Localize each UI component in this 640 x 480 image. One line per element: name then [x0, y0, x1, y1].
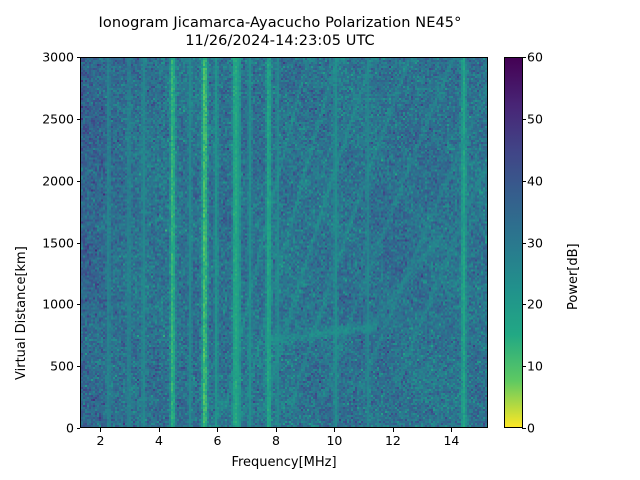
- x-tick-label: 10: [326, 433, 342, 448]
- colorbar-tick-label: 20: [527, 297, 543, 312]
- title-line-2: 11/26/2024-14:23:05 UTC: [0, 32, 560, 50]
- x-tick-label: 4: [155, 433, 163, 448]
- colorbar-tick: [522, 304, 526, 305]
- y-tick-label: 0: [66, 421, 74, 436]
- x-tick-label: 8: [272, 433, 280, 448]
- y-tick: [77, 119, 81, 120]
- x-tick-label: 2: [96, 433, 104, 448]
- y-tick: [77, 57, 81, 58]
- y-tick-label: 2500: [42, 111, 74, 126]
- y-axis-title: Virtual Distance[km]: [14, 246, 29, 380]
- y-tick: [77, 428, 81, 429]
- x-tick: [100, 428, 101, 432]
- x-tick: [159, 428, 160, 432]
- colorbar-title: Power[dB]: [566, 243, 581, 310]
- colorbar-tick-label: 60: [527, 50, 543, 65]
- colorbar-tick: [522, 119, 526, 120]
- y-tick: [77, 243, 81, 244]
- ionogram-plot-area: [80, 57, 488, 428]
- y-tick-label: 1000: [42, 297, 74, 312]
- figure-canvas: Ionogram Jicamarca-Ayacucho Polarization…: [0, 0, 640, 480]
- y-tick-label: 1500: [42, 235, 74, 250]
- y-tick-label: 2000: [42, 173, 74, 188]
- colorbar-tick-label: 0: [527, 421, 535, 436]
- colorbar-gradient: [505, 58, 522, 427]
- x-tick: [276, 428, 277, 432]
- y-tick: [77, 304, 81, 305]
- colorbar-tick: [522, 243, 526, 244]
- title-line-1: Ionogram Jicamarca-Ayacucho Polarization…: [99, 15, 462, 31]
- colorbar-tick-label: 40: [527, 173, 543, 188]
- y-tick: [77, 181, 81, 182]
- y-tick: [77, 366, 81, 367]
- ionogram-heatmap: [81, 58, 487, 427]
- colorbar-tick-label: 50: [527, 111, 543, 126]
- colorbar-tick: [522, 428, 526, 429]
- x-axis-title: Frequency[MHz]: [80, 455, 488, 470]
- x-tick-label: 14: [443, 433, 459, 448]
- y-tick-label: 500: [50, 359, 74, 374]
- colorbar-tick: [522, 366, 526, 367]
- x-tick: [451, 428, 452, 432]
- figure-title: Ionogram Jicamarca-Ayacucho Polarization…: [0, 14, 560, 50]
- x-tick-label: 12: [385, 433, 401, 448]
- x-tick: [217, 428, 218, 432]
- y-tick-label: 3000: [42, 50, 74, 65]
- colorbar-tick-label: 30: [527, 235, 543, 250]
- colorbar: [504, 57, 523, 428]
- x-tick: [334, 428, 335, 432]
- colorbar-tick-label: 10: [527, 359, 543, 374]
- x-tick: [393, 428, 394, 432]
- colorbar-tick: [522, 57, 526, 58]
- colorbar-tick: [522, 181, 526, 182]
- x-tick-label: 6: [213, 433, 221, 448]
